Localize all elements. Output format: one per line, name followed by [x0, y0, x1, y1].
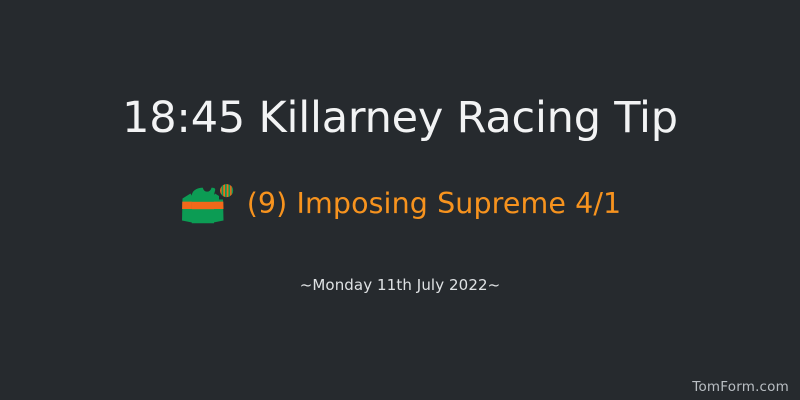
jockey-cap-icon [220, 184, 233, 197]
page-title: 18:45 Killarney Racing Tip [122, 96, 678, 141]
site-credit: TomForm.com [692, 379, 789, 395]
race-date: ~Monday 11th July 2022~ [300, 276, 501, 294]
racing-tip-card: 18:45 Killarney Racing Tip [0, 0, 800, 400]
selection-row: (9) Imposing Supreme 4/1 [179, 179, 622, 229]
jockey-silk-graphic [179, 179, 235, 229]
selection-label: (9) Imposing Supreme 4/1 [247, 188, 622, 219]
jockey-silk-icon [179, 179, 235, 229]
card-content-stack: 18:45 Killarney Racing Tip [0, 0, 800, 400]
